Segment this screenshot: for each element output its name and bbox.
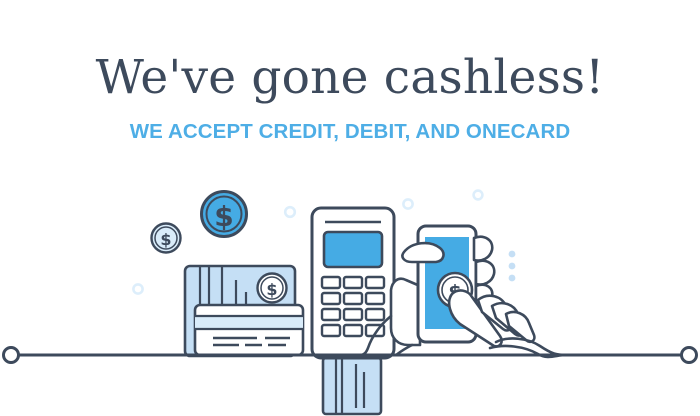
terminal-screen [324, 232, 382, 267]
ground-line-left-endpoint [4, 348, 19, 363]
cashless-promo-page: We've gone cashless! WE ACCEPT CREDIT, D… [0, 0, 700, 416]
hero-text-block: We've gone cashless! WE ACCEPT CREDIT, D… [0, 0, 700, 144]
page-subtitle: WE ACCEPT CREDIT, DEBIT, AND ONECARD [0, 103, 700, 144]
keypad-key[interactable] [344, 325, 362, 336]
signal-dot [509, 275, 516, 282]
large-dollar-coin: $ [202, 192, 247, 237]
holding-hand-palm [391, 279, 420, 345]
keypad-key[interactable] [344, 277, 362, 288]
keypad-key[interactable] [322, 325, 340, 336]
keypad-key[interactable] [344, 293, 362, 304]
signal-dot [509, 251, 516, 258]
small-dollar-coin-cards: $ [258, 274, 287, 303]
decorative-ring-left [133, 284, 142, 293]
cashless-payment-illustration: $ $ [0, 176, 700, 416]
holding-hand-fingers [402, 243, 443, 262]
decorative-ring-far-right [474, 191, 483, 200]
credit-card-front [195, 305, 303, 355]
small-dollar-coin-left: $ [152, 224, 181, 253]
decorative-ring-mid [285, 207, 295, 217]
keypad-key[interactable] [366, 309, 384, 320]
large-coin-dollar-glyph: $ [214, 200, 233, 233]
inserted-card [323, 358, 381, 414]
left-coin-dollar-glyph: $ [160, 230, 171, 249]
keypad-key[interactable] [322, 277, 340, 288]
signal-dot [509, 263, 516, 270]
keypad-key[interactable] [344, 309, 362, 320]
keypad-key[interactable] [366, 293, 384, 304]
keypad-key[interactable] [322, 309, 340, 320]
decorative-ring-right [403, 199, 412, 208]
card-coin-dollar-glyph: $ [266, 280, 277, 299]
keypad-key[interactable] [366, 277, 384, 288]
credit-cards-group: $ [185, 266, 303, 356]
ground-line-right-endpoint [682, 348, 697, 363]
signal-dots [509, 251, 516, 282]
keypad-key[interactable] [322, 293, 340, 304]
page-title: We've gone cashless! [0, 0, 700, 103]
card-terminal[interactable] [312, 208, 394, 358]
